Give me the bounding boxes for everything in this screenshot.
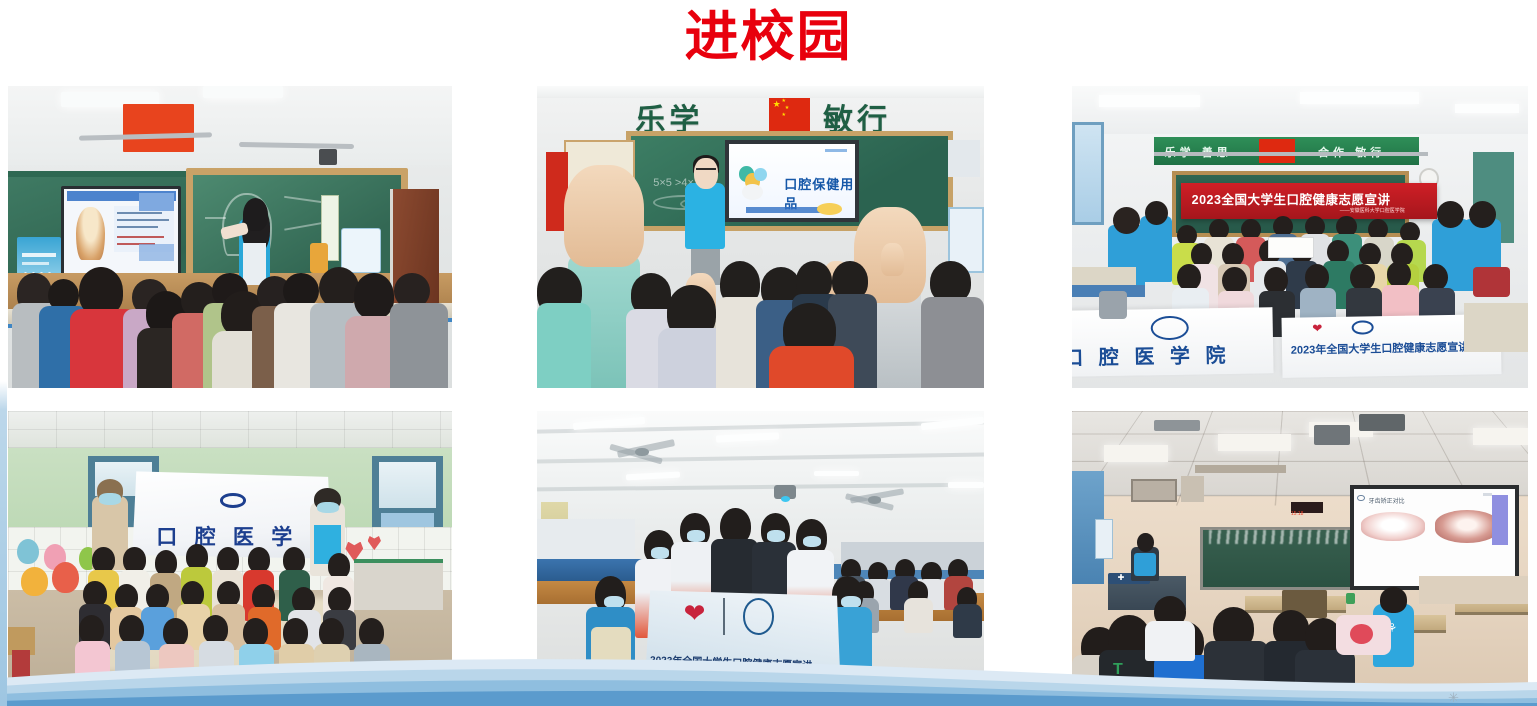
led-clock-display: 15:18	[1291, 502, 1323, 513]
photo-lecture-room-projection[interactable]: 15:18 牙齿矫正对比 ✚ ⚘	[1072, 411, 1528, 695]
teeth-image-before	[1361, 512, 1425, 541]
photo-classroom-chalkboard[interactable]	[8, 86, 452, 388]
teeth-image-after	[1435, 510, 1499, 543]
heart-icon: ❤	[684, 600, 706, 626]
china-flag-icon	[123, 104, 194, 152]
left-edge-accent	[0, 0, 7, 706]
raised-hand-left	[564, 165, 644, 268]
photo-classroom-hands-raised[interactable]: 乐学 敏行 ★ ★ ★ ★ 5×5 >4×1 口腔保健用品	[537, 86, 984, 388]
classroom-display: 口腔保健用品	[725, 140, 859, 222]
presentation-slide: 进校园	[0, 0, 1537, 706]
projection-screen: 牙齿矫正对比	[1350, 485, 1519, 590]
classroom-display	[61, 186, 181, 277]
kindergarten-banner: 口 腔 医 学 院	[132, 468, 332, 559]
china-flag-icon: ★ ★ ★ ★	[769, 95, 809, 131]
slide-title: 进校园	[0, 2, 1537, 70]
corner-mark-icon: ✳	[1448, 691, 1459, 704]
photo-kindergarten-banner[interactable]: 口 腔 医 学 院	[8, 411, 452, 695]
photo-lecture-hall-volunteers[interactable]: ❤ 2023年全国大学生口腔健康志愿宣讲	[537, 411, 984, 695]
photo-group-red-banner[interactable]: 乐学 善思 合作 敏行 2023全国大学生口腔健康志愿宣讲 ——安徽医科大学口腔…	[1072, 86, 1528, 388]
red-event-banner: 2023全国大学生口腔健康志愿宣讲 ——安徽医科大学口腔医学院	[1181, 183, 1436, 219]
university-emblem-icon	[743, 598, 774, 635]
volunteer-banner: ❤ 2023年全国大学生口腔健康志愿宣讲	[644, 587, 841, 695]
china-flag-icon	[1259, 139, 1295, 163]
